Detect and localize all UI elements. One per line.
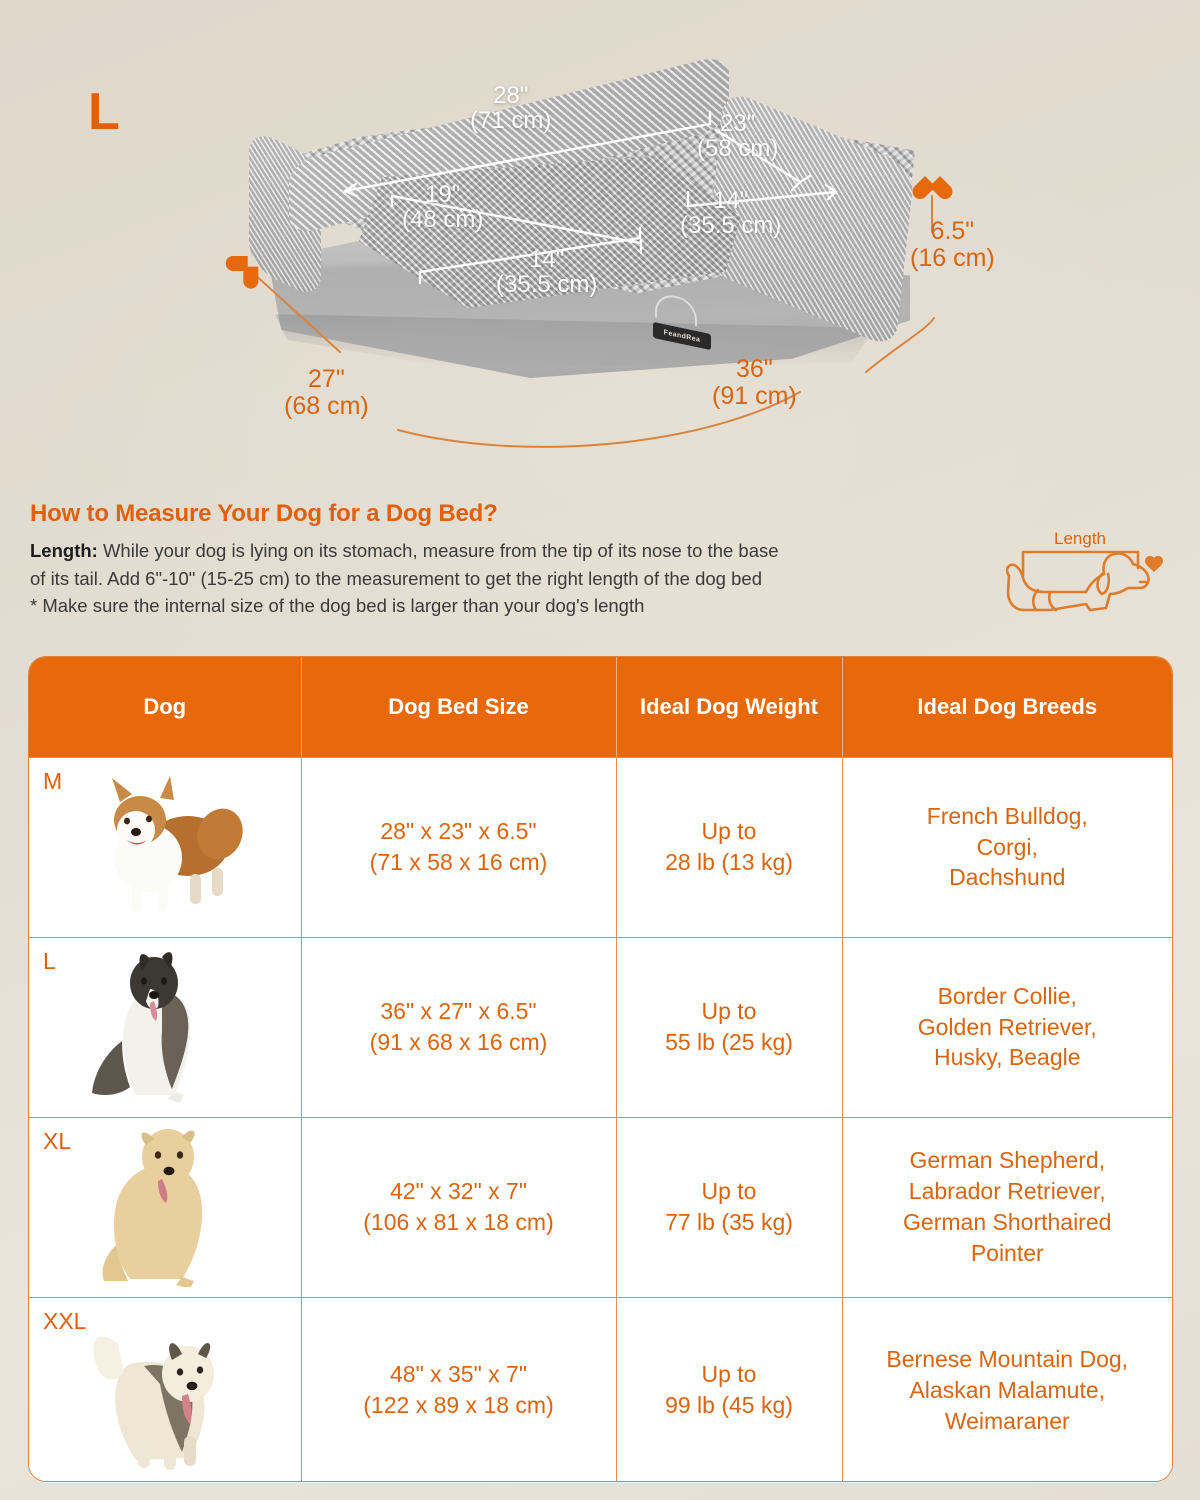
- dim-label-depth: 27" (68 cm): [284, 366, 369, 419]
- malamute-photo: [60, 1310, 270, 1470]
- heart-icon-small: [1145, 556, 1163, 572]
- bed-size-inches: 36" x 27" x 6.5": [302, 996, 616, 1027]
- cell-weight-l: Up to 55 lb (25 kg): [616, 937, 842, 1117]
- dim-label-inner-front-width: 14" (35.5 cm): [496, 248, 597, 298]
- cell-bed-size-m: 28" x 23" x 6.5" (71 x 58 x 16 cm): [301, 757, 616, 937]
- cell-bed-size-xl: 42" x 32" x 7" (106 x 81 x 18 cm): [301, 1117, 616, 1297]
- length-label: Length:: [30, 540, 98, 561]
- cell-breeds-l: Border Collie, Golden Retriever, Husky, …: [842, 937, 1172, 1117]
- cell-breeds-m: French Bulldog, Corgi, Dachshund: [842, 757, 1172, 937]
- table-row: L: [29, 937, 1172, 1117]
- size-label-xxl: XXL: [43, 1306, 86, 1337]
- table-header-row: Dog Dog Bed Size Ideal Dog Weight Ideal …: [29, 657, 1172, 757]
- dim-label-length: 36" (91 cm): [712, 356, 797, 409]
- corgi-photo: [70, 772, 260, 922]
- column-header-breeds: Ideal Dog Breeds: [842, 657, 1172, 757]
- diagram-length-label: Length: [1054, 529, 1106, 548]
- cell-bed-size-l: 36" x 27" x 6.5" (91 x 68 x 16 cm): [301, 937, 616, 1117]
- brand-tag-label: FeandRea: [664, 329, 701, 344]
- cell-dog-m: M: [29, 757, 301, 937]
- instruction-line-1: Length: While your dog is lying on its s…: [30, 537, 980, 565]
- cell-dog-xxl: XXL: [29, 1297, 301, 1482]
- bed-size-cm: (122 x 89 x 18 cm): [302, 1390, 616, 1421]
- instruction-line-2: of its tail. Add 6"-10" (15-25 cm) to th…: [30, 565, 980, 593]
- table-row: XL: [29, 1117, 1172, 1297]
- measure-instructions-section: How to Measure Your Dog for a Dog Bed? L…: [30, 500, 1170, 645]
- bed-size-cm: (71 x 58 x 16 cm): [302, 847, 616, 878]
- cell-dog-xl: XL: [29, 1117, 301, 1297]
- heart-marker-icon-height: [920, 172, 946, 198]
- size-label-l: L: [43, 946, 56, 977]
- table-row: XXL: [29, 1297, 1172, 1482]
- table-row: M: [29, 757, 1172, 937]
- dog-size-chart-table: Dog Dog Bed Size Ideal Dog Weight Ideal …: [28, 656, 1173, 1482]
- bed-size-inches: 42" x 32" x 7": [302, 1176, 616, 1207]
- column-header-dog: Dog: [29, 657, 301, 757]
- column-header-weight: Ideal Dog Weight: [616, 657, 842, 757]
- border-collie-photo: [70, 949, 260, 1105]
- cell-weight-m: Up to 28 lb (13 kg): [616, 757, 842, 937]
- dim-label-inner-right-depth: 14" (35.5 cm): [680, 189, 781, 239]
- cell-breeds-xxl: Bernese Mountain Dog, Alaskan Malamute, …: [842, 1297, 1172, 1482]
- labrador-photo: [70, 1127, 260, 1287]
- dim-label-top-width: 28" (71 cm): [470, 84, 551, 134]
- hero-product-illustration: L FeandRea: [0, 0, 1200, 480]
- cell-weight-xl: Up to 77 lb (35 kg): [616, 1117, 842, 1297]
- cell-dog-l: L: [29, 937, 301, 1117]
- bed-size-cm: (106 x 81 x 18 cm): [302, 1207, 616, 1238]
- cell-breeds-xl: German Shepherd, Labrador Retriever, Ger…: [842, 1117, 1172, 1297]
- dog-length-diagram-icon: Length: [990, 522, 1170, 630]
- dim-label-inner-left-width: 19" (48 cm): [402, 183, 483, 233]
- dim-label-right-depth: 23" (58 cm): [697, 112, 778, 162]
- bed-size-cm: (91 x 68 x 16 cm): [302, 1027, 616, 1058]
- bed-size-inches: 28" x 23" x 6.5": [302, 816, 616, 847]
- size-label-m: M: [43, 766, 62, 797]
- cell-weight-xxl: Up to 99 lb (45 kg): [616, 1297, 842, 1482]
- column-header-bed-size: Dog Bed Size: [301, 657, 616, 757]
- instruction-text: Length: While your dog is lying on its s…: [30, 537, 980, 620]
- cell-bed-size-xxl: 48" x 35" x 7" (122 x 89 x 18 cm): [301, 1297, 616, 1482]
- size-label-xl: XL: [43, 1126, 71, 1157]
- size-badge: L: [88, 86, 119, 138]
- bed-size-inches: 48" x 35" x 7": [302, 1359, 616, 1390]
- instruction-line-3: * Make sure the internal size of the dog…: [30, 592, 980, 620]
- dim-label-height: 6.5" (16 cm): [910, 218, 995, 271]
